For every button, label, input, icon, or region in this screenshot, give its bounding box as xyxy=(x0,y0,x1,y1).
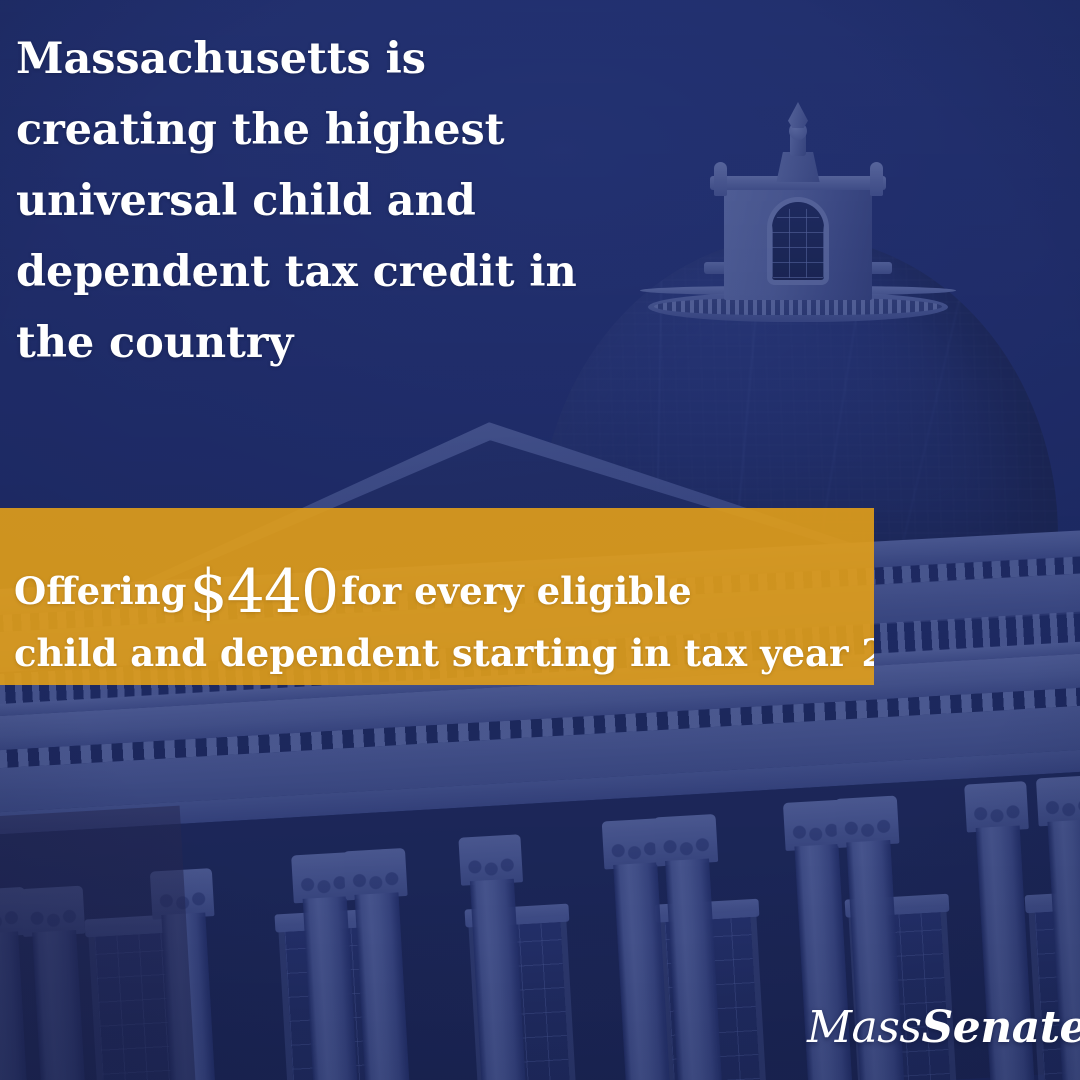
social-graphic-canvas: Massachusetts is creating the highest un… xyxy=(0,0,1080,1080)
banner-text-group: Offering$440for every eligible child and… xyxy=(14,508,874,685)
banner-line-1: Offering$440for every eligible xyxy=(14,554,692,614)
logo-mass: Mass xyxy=(807,1002,921,1053)
banner-line-2: child and dependent starting in tax year… xyxy=(14,635,874,672)
banner-offering-label: Offering xyxy=(14,569,186,613)
headline-text: Massachusetts is creating the highest un… xyxy=(16,24,636,379)
headline-line-1: Massachusetts is xyxy=(16,24,636,95)
mass-senate-logo[interactable]: MassSenate xyxy=(807,1002,1080,1053)
credit-amount: $440 xyxy=(186,557,341,627)
headline-line-2: creating the highest xyxy=(16,95,636,166)
headline-line-3: universal child and xyxy=(16,166,636,237)
headline-line-5: the country xyxy=(16,308,636,379)
banner-line-1-tail: for every eligible xyxy=(341,569,691,613)
yellow-callout-banner: Offering$440for every eligible child and… xyxy=(0,508,874,685)
headline-line-4: dependent tax credit in xyxy=(16,237,636,308)
logo-senate: Senate xyxy=(921,1002,1080,1053)
